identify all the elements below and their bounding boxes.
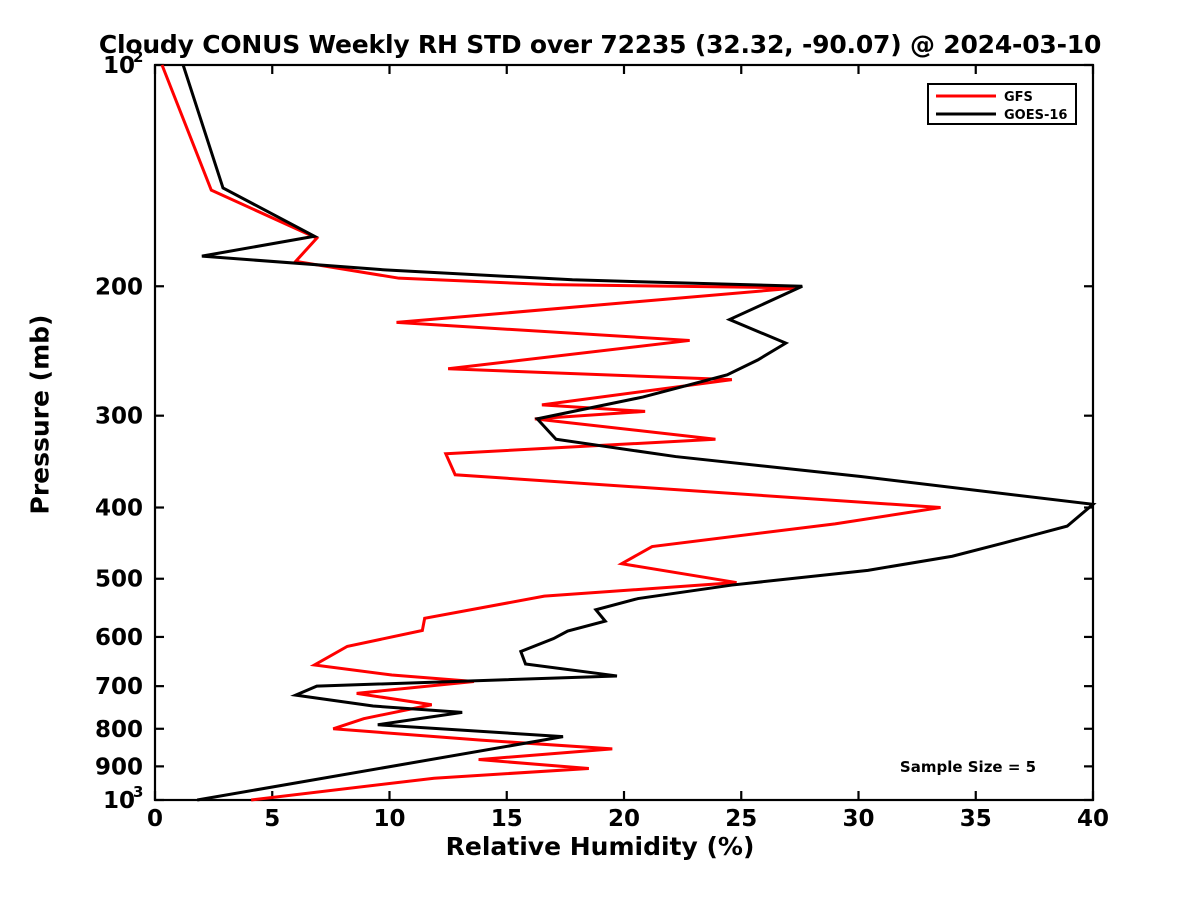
y-tick-label: 700 [95,674,143,700]
y-tick-label: 200 [95,274,143,300]
plot-area: 0510152025303540 10220030040050060070080… [0,0,1200,900]
y-tick-label: 900 [95,754,143,780]
y-tick-label: 500 [95,567,143,593]
x-tick-label: 25 [725,806,757,832]
x-tick-label: 40 [1077,806,1109,832]
sample-size-text: Sample Size = 5 [900,758,1036,776]
data-series-group [162,65,1093,800]
legend-label-goes-16: GOES-16 [1004,108,1067,123]
svg-text:2: 2 [133,48,143,66]
x-tick-label: 35 [960,806,992,832]
x-tick-label: 10 [373,806,405,832]
figure-canvas: Cloudy CONUS Weekly RH STD over 72235 (3… [0,0,1200,900]
series-line-goes-16 [183,65,1093,800]
legend[interactable]: GFSGOES-16 [928,84,1076,124]
x-tick-label: 15 [491,806,523,832]
svg-text:10: 10 [103,788,135,814]
svg-text:3: 3 [133,783,143,801]
y-tick-label: 103 [103,783,143,814]
y-axis-ticks: 102200300400500600700800900103 [95,48,1093,814]
y-tick-label: 300 [95,404,143,430]
y-tick-label: 102 [103,48,143,79]
svg-text:10: 10 [103,53,135,79]
x-tick-label: 5 [264,806,280,832]
y-tick-label: 400 [95,496,143,522]
y-tick-label: 800 [95,717,143,743]
y-tick-label: 600 [95,625,143,651]
legend-label-gfs: GFS [1004,90,1033,105]
sample-size-annotation: Sample Size = 5 [900,758,1036,776]
axes-frame [155,65,1093,800]
x-tick-label: 0 [147,806,163,832]
x-tick-label: 30 [842,806,874,832]
x-tick-label: 20 [608,806,640,832]
